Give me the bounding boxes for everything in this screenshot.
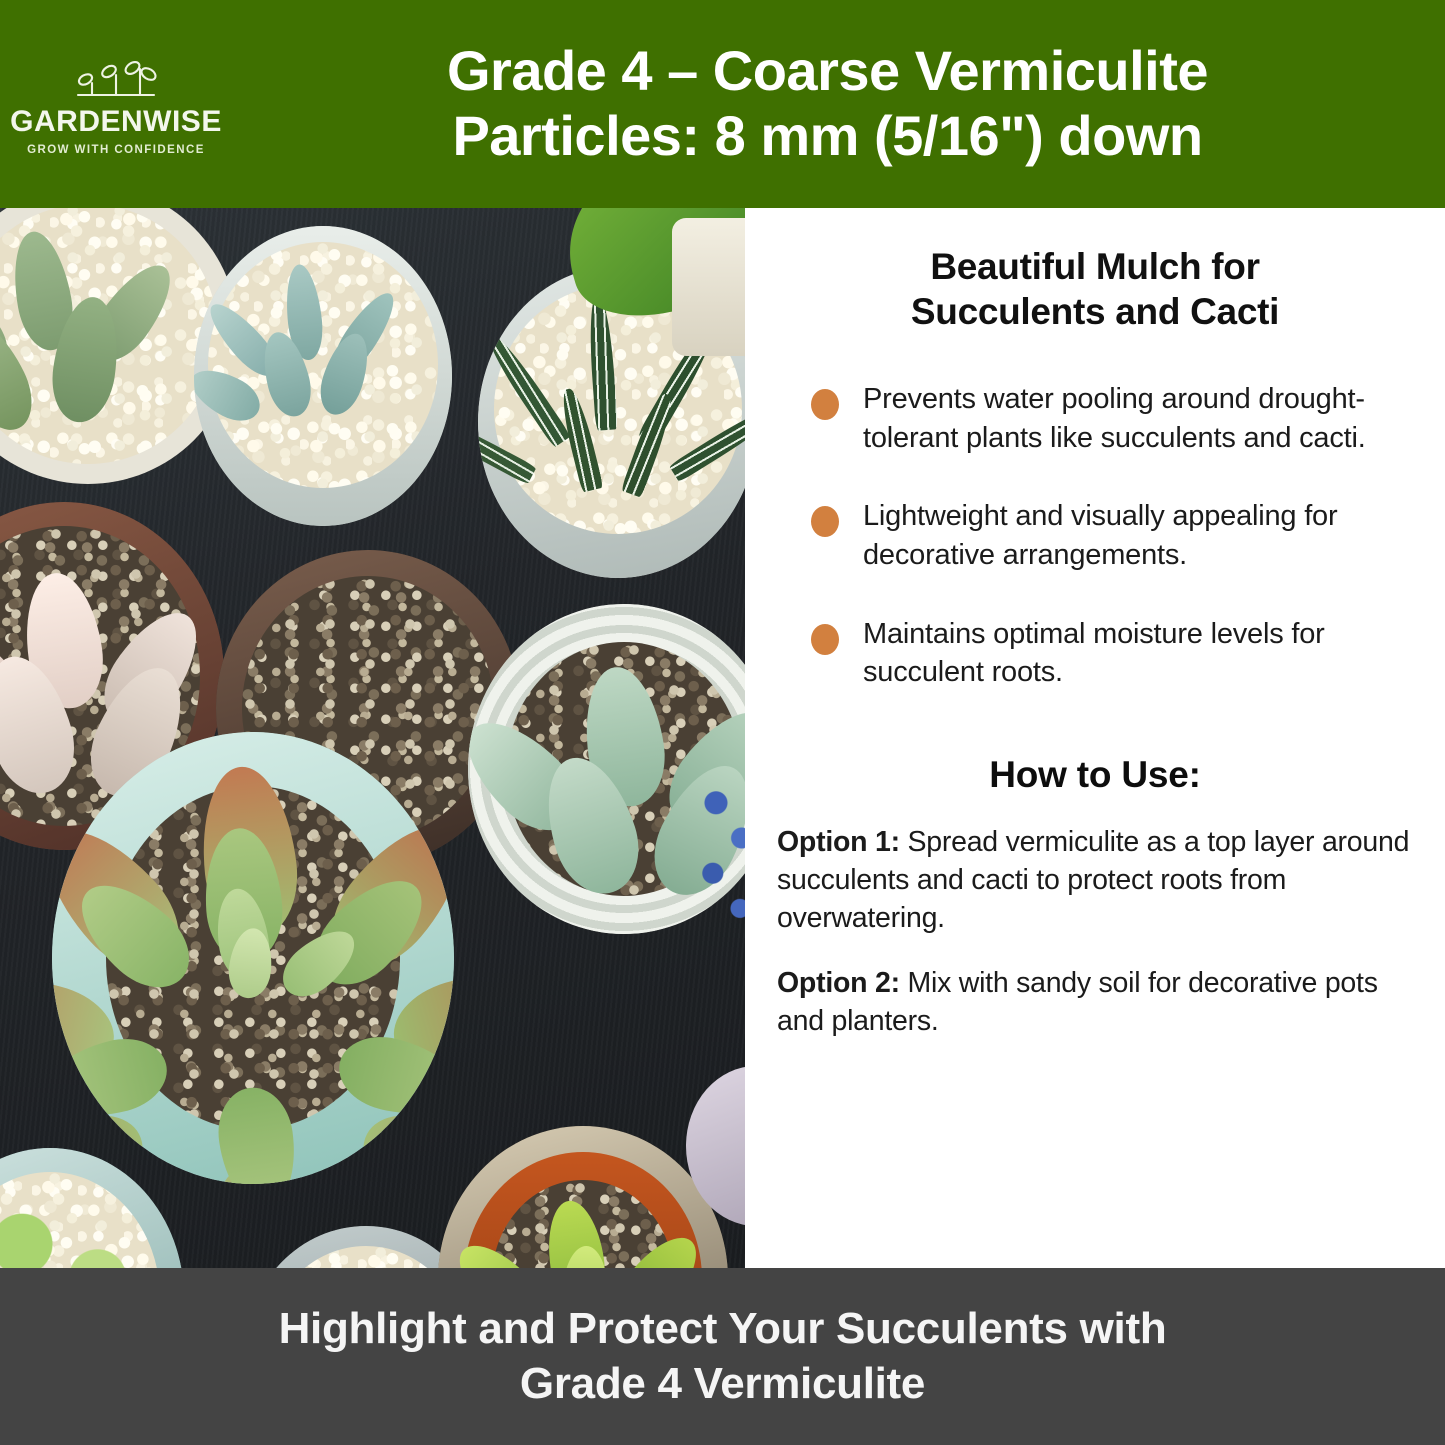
seedling-sprouts-icon xyxy=(70,57,162,105)
header-banner: GARDENWISE GROW WITH CONFIDENCE Grade 4 … xyxy=(0,0,1445,208)
benefits-list: Prevents water pooling around drought-to… xyxy=(777,380,1413,691)
option-2-label: Option 2: xyxy=(777,967,900,999)
list-item: Maintains optimal moisture levels for su… xyxy=(811,615,1413,692)
infographic-page: GARDENWISE GROW WITH CONFIDENCE Grade 4 … xyxy=(0,0,1445,1445)
option-1-label: Option 1: xyxy=(777,826,900,858)
background-jar xyxy=(672,218,745,356)
list-item: Prevents water pooling around drought-to… xyxy=(811,380,1413,457)
footer-line-1: Highlight and Protect Your Succulents wi… xyxy=(279,1302,1167,1357)
footer-line-2: Grade 4 Vermiculite xyxy=(279,1357,1167,1412)
bullet-text: Prevents water pooling around drought-to… xyxy=(863,380,1408,457)
footer-text: Highlight and Protect Your Succulents wi… xyxy=(279,1302,1167,1411)
bullet-dot-icon xyxy=(811,506,839,537)
info-panel: Beautiful Mulch for Succulents and Cacti… xyxy=(745,208,1445,1268)
brand-tagline: GROW WITH CONFIDENCE xyxy=(27,144,205,156)
background-blue-flowers xyxy=(684,774,745,934)
bullet-dot-icon xyxy=(811,389,839,420)
header-title-line-1: Grade 4 – Coarse Vermiculite xyxy=(232,39,1423,104)
brand-logo: GARDENWISE GROW WITH CONFIDENCE xyxy=(0,53,232,156)
howto-option-1: Option 1: Spread vermiculite as a top la… xyxy=(777,823,1413,938)
bullet-dot-icon xyxy=(811,624,839,655)
list-item: Lightweight and visually appealing for d… xyxy=(811,497,1413,574)
header-title-line-2: Particles: 8 mm (5/16") down xyxy=(232,104,1423,169)
bullet-text: Lightweight and visually appealing for d… xyxy=(863,497,1408,574)
panel-heading: Beautiful Mulch for Succulents and Cacti xyxy=(777,244,1413,334)
pot-top-center xyxy=(194,226,452,526)
pot-hero-echeveria xyxy=(52,732,454,1184)
panel-heading-line-2: Succulents and Cacti xyxy=(777,289,1413,334)
product-photo xyxy=(0,208,745,1268)
panel-heading-line-1: Beautiful Mulch for xyxy=(777,244,1413,289)
bullet-text: Maintains optimal moisture levels for su… xyxy=(863,615,1408,692)
header-title: Grade 4 – Coarse Vermiculite Particles: … xyxy=(232,39,1445,169)
brand-wordmark: GARDENWISE xyxy=(10,107,222,137)
footer-banner: Highlight and Protect Your Succulents wi… xyxy=(0,1268,1445,1445)
sedum-rosettes xyxy=(0,1198,148,1268)
howto-title: How to Use: xyxy=(777,754,1413,796)
howto-option-2: Option 2: Mix with sandy soil for decora… xyxy=(777,964,1413,1040)
